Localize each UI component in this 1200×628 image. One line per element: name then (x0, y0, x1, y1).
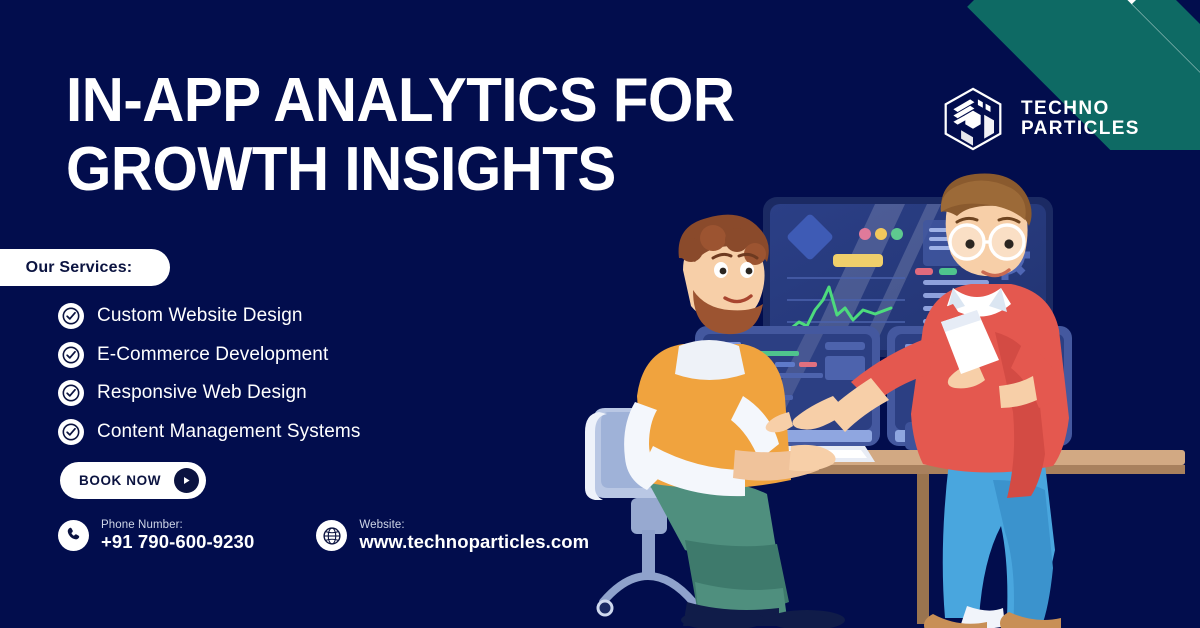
phone-label: Phone Number: (101, 519, 254, 532)
promo-banner: IN-APP ANALYTICS FOR GROWTH INSIGHTS Our… (0, 0, 1200, 628)
list-item[interactable]: Responsive Web Design (58, 380, 360, 406)
website-label: Website: (359, 519, 589, 532)
brand-logo[interactable]: TECHNO PARTICLES (938, 84, 1140, 154)
list-item-label: Content Management Systems (97, 421, 360, 443)
list-item[interactable]: E-Commerce Development (58, 342, 360, 368)
check-circle-icon (58, 419, 84, 445)
list-item-label: Custom Website Design (97, 305, 303, 327)
globe-icon (316, 520, 347, 551)
book-now-button[interactable]: BOOK NOW (60, 462, 206, 499)
cube-particles-logo-icon (938, 84, 1008, 154)
services-list: Custom Website Design E-Commerce Develop… (58, 303, 360, 445)
contact-website[interactable]: Website: www.technoparticles.com (316, 519, 589, 553)
phone-value: +91 790-600-9230 (101, 532, 254, 553)
logo-line-2: PARTICLES (1021, 119, 1140, 139)
list-item[interactable]: Custom Website Design (58, 303, 360, 329)
check-circle-icon (58, 303, 84, 329)
logo-line-1: TECHNO (1021, 99, 1140, 119)
check-circle-icon (58, 342, 84, 368)
contact-bar: Phone Number: +91 790-600-9230 Website: … (58, 519, 589, 553)
website-value: www.technoparticles.com (359, 532, 589, 553)
list-item[interactable]: Content Management Systems (58, 419, 360, 445)
services-label-pill: Our Services: (0, 249, 170, 286)
check-circle-icon (58, 380, 84, 406)
list-item-label: E-Commerce Development (97, 344, 328, 366)
play-arrow-icon (174, 468, 199, 493)
book-now-label: BOOK NOW (79, 473, 161, 488)
phone-icon (58, 520, 89, 551)
list-item-label: Responsive Web Design (97, 382, 307, 404)
services-label-text: Our Services: (26, 259, 133, 277)
team-analytics-dashboard-illustration (575, 150, 1200, 628)
teal-diagonal-band-outer (1132, 0, 1200, 150)
contact-phone[interactable]: Phone Number: +91 790-600-9230 (58, 519, 254, 553)
